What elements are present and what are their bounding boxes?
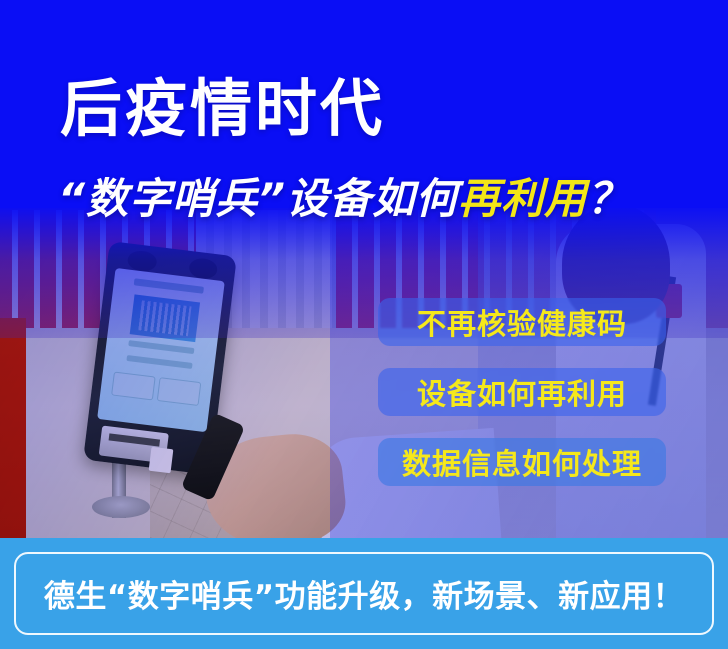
kiosk-qr-code-icon [130, 295, 200, 342]
page-title: 后疫情时代 [60, 78, 385, 140]
kiosk-pole-base [92, 496, 150, 518]
bottom-banner-text: 德生“数字哨兵”功能升级，新场景、新应用！ [44, 571, 684, 616]
poster: 后疫情时代 “数字哨兵”设备如何再利用？ 不再核验健康码 设备如何再利用 数据信… [0, 0, 728, 649]
topic-pill[interactable]: 数据信息如何处理 [378, 438, 666, 486]
kiosk-screen-line-1 [128, 340, 194, 354]
topic-pill-list: 不再核验健康码 设备如何再利用 数据信息如何处理 [378, 298, 666, 486]
kiosk-screen [97, 268, 225, 432]
topic-pill[interactable]: 不再核验健康码 [378, 298, 666, 346]
kiosk-screen-button-right [157, 377, 201, 405]
page-subtitle: “数字哨兵”设备如何再利用？ [58, 178, 630, 220]
kiosk-screen-button-left [111, 372, 155, 400]
topic-pill-label: 不再核验健康码 [417, 301, 627, 343]
red-column [0, 318, 26, 538]
kiosk-screen-line-2 [126, 355, 192, 369]
subtitle-suffix: ？ [587, 174, 630, 223]
subtitle-prefix: “数字哨兵”设备如何 [58, 174, 458, 223]
kiosk-screen-title-bar [133, 278, 204, 294]
bottom-banner: 德生“数字哨兵”功能升级，新场景、新应用！ [0, 538, 728, 649]
topic-pill-label: 设备如何再利用 [417, 371, 627, 413]
subtitle-accent: 再利用 [458, 174, 587, 223]
kiosk-white-chip [149, 447, 174, 474]
topic-pill-label: 数据信息如何处理 [402, 441, 642, 483]
topic-pill[interactable]: 设备如何再利用 [378, 368, 666, 416]
bottom-banner-frame: 德生“数字哨兵”功能升级，新场景、新应用！ [14, 552, 714, 635]
